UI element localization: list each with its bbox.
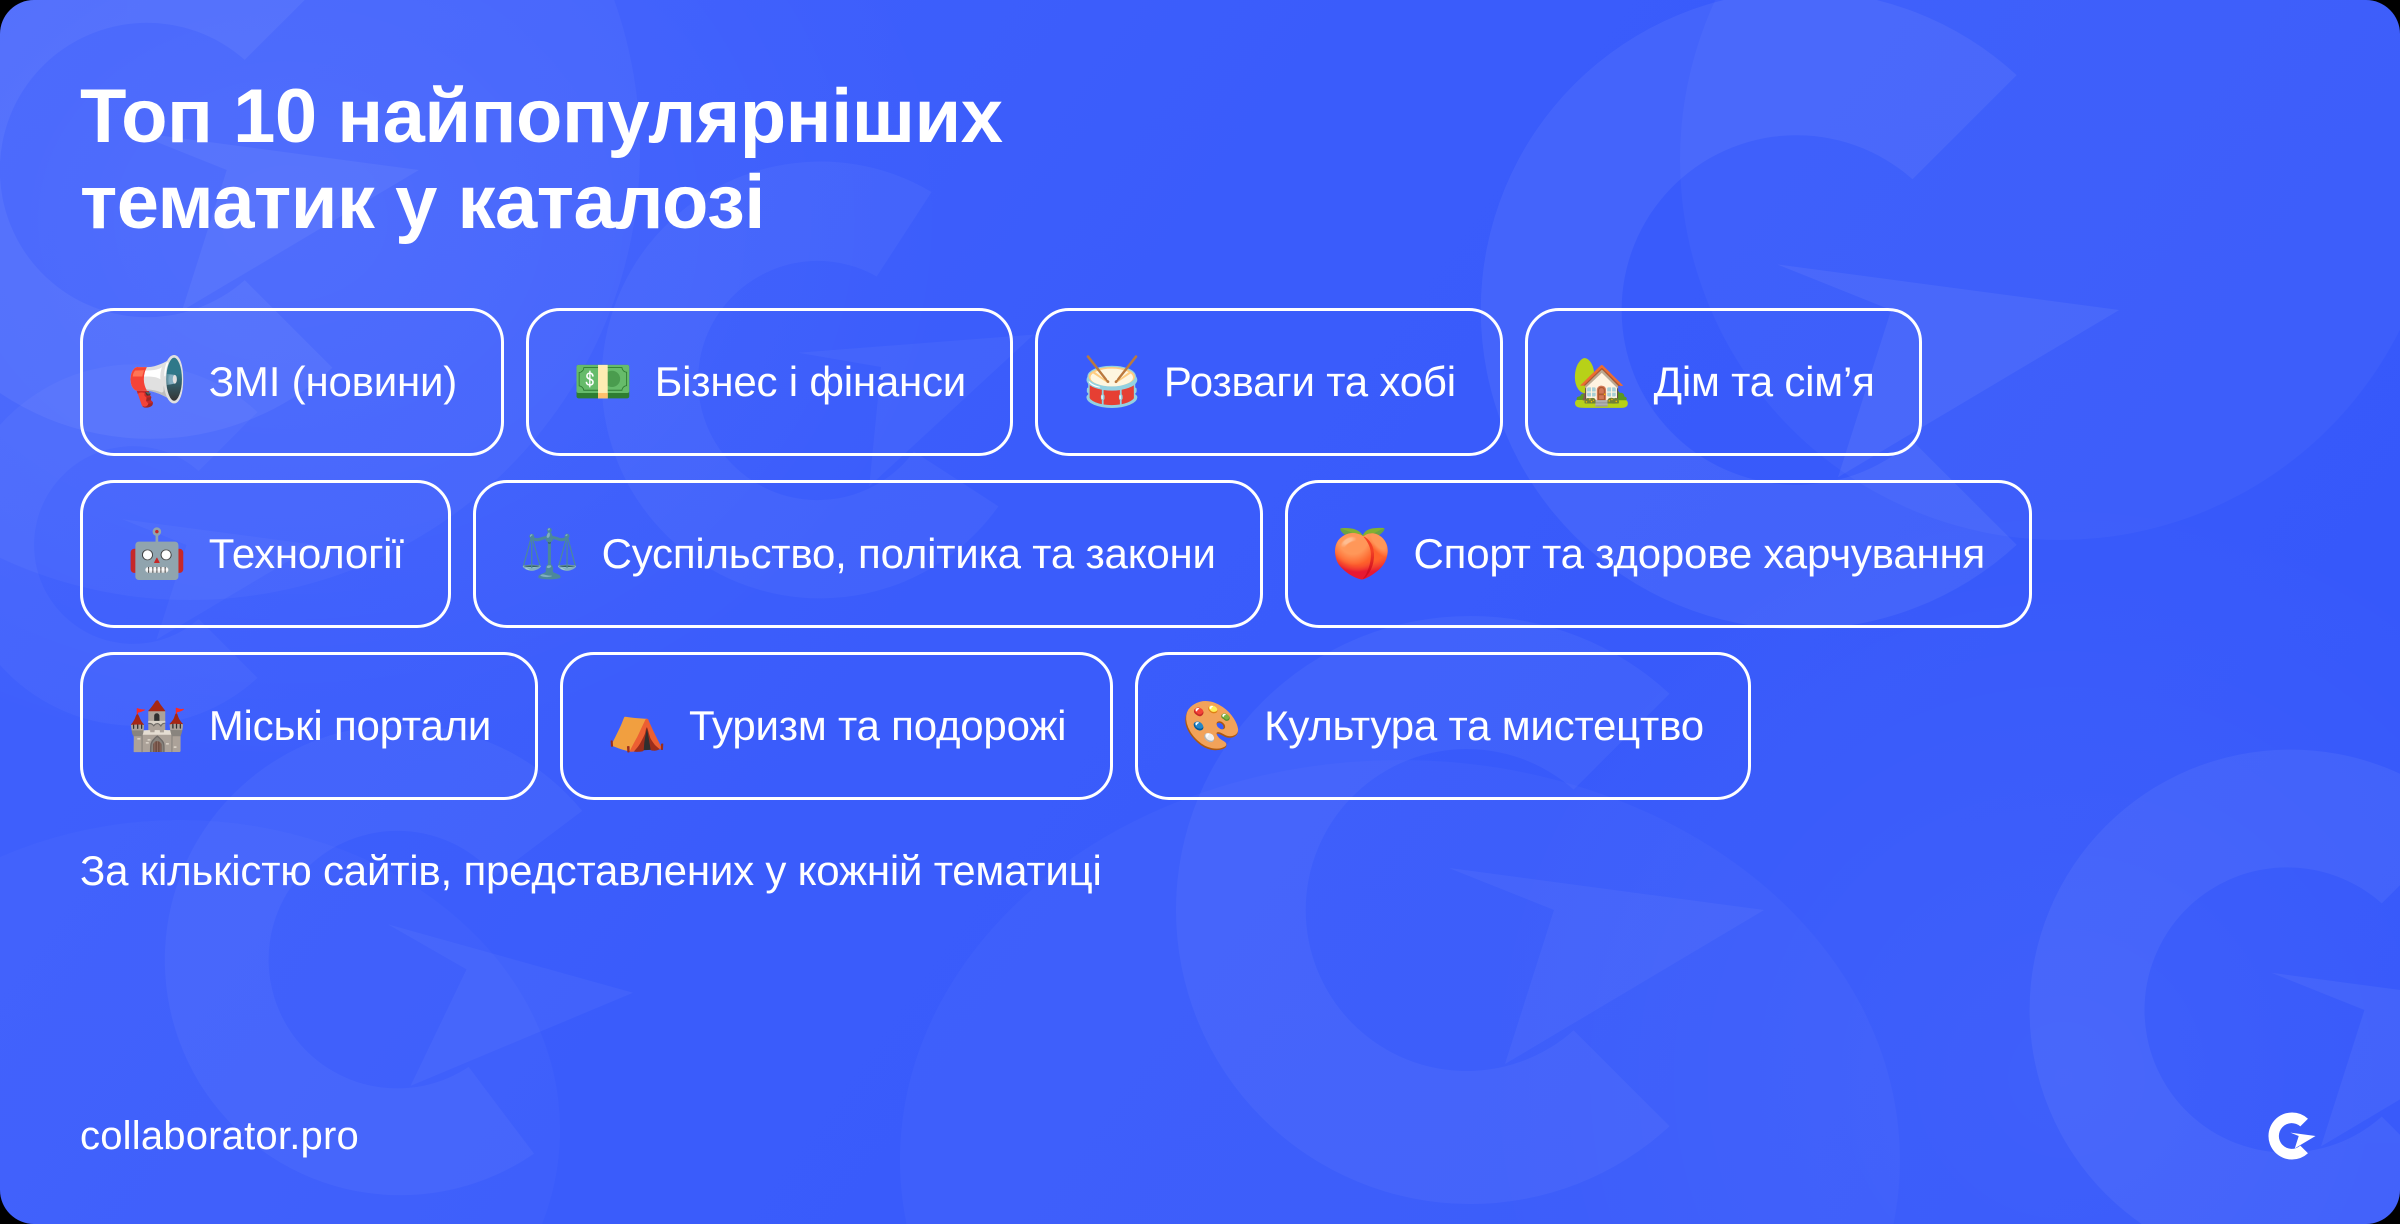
topic-chip-label: Суспільство, політика та закони [602,533,1216,575]
page-title-line-2: тематик у каталозі [80,160,765,245]
topic-chip-row: 🤖 Технології ⚖️ Суспільство, політика та… [80,480,2032,628]
brand-url[interactable]: collaborator.pro [80,1114,359,1159]
topic-chip-row: 📢 ЗМІ (новини) 💵 Бізнес і фінанси 🥁 Розв… [80,308,1922,456]
poster-canvas: Топ 10 найпопулярніших тематик у каталоз… [0,0,2400,1224]
poster-content: Топ 10 найпопулярніших тематик у каталоз… [0,0,2400,896]
topic-chip-label: Дім та сім’я [1654,361,1875,403]
balance-scale-icon: ⚖️ [520,530,580,578]
collaborator-logo [2264,1108,2320,1164]
robot-icon: 🤖 [127,530,187,578]
topic-chip-label: Спорт та здорове харчування [1414,533,1986,575]
footer: collaborator.pro [80,1108,2320,1164]
topic-chip-label: Бізнес і фінанси [655,361,966,403]
topic-chip-label: Розваги та хобі [1164,361,1456,403]
topic-chip-business-finance[interactable]: 💵 Бізнес і фінанси [526,308,1013,456]
loudspeaker-icon: 📢 [127,358,187,406]
topic-chip-entertainment-hobbies[interactable]: 🥁 Розваги та хобі [1035,308,1503,456]
topic-chip-media[interactable]: 📢 ЗМІ (новини) [80,308,504,456]
topic-chip-society-politics-law[interactable]: ⚖️ Суспільство, політика та закони [473,480,1263,628]
topic-chip-label: ЗМІ (новини) [209,361,457,403]
topic-chip-label: Технології [209,533,404,575]
topic-chip-city-portals[interactable]: 🏰 Міські портали [80,652,538,800]
peach-icon: 🍑 [1332,530,1392,578]
topic-chip-group: 📢 ЗМІ (новини) 💵 Бізнес і фінанси 🥁 Розв… [80,308,2320,800]
page-title: Топ 10 найпопулярніших тематик у каталоз… [80,74,1480,246]
drum-icon: 🥁 [1082,358,1142,406]
topic-chip-sport-healthy-food[interactable]: 🍑 Спорт та здорове харчування [1285,480,2032,628]
tent-icon: ⛺ [607,702,667,750]
artist-palette-icon: 🎨 [1182,702,1242,750]
topic-chip-row: 🏰 Міські портали ⛺ Туризм та подорожі 🎨 … [80,652,1751,800]
house-with-garden-icon: 🏡 [1572,358,1632,406]
page-title-line-1: Топ 10 найпопулярніших [80,74,1003,159]
topic-chip-home-family[interactable]: 🏡 Дім та сім’я [1525,308,1922,456]
topic-chip-label: Туризм та подорожі [689,705,1066,747]
topic-chip-culture-art[interactable]: 🎨 Культура та мистецтво [1135,652,1751,800]
subtitle-caption: За кількістю сайтів, представлених у кож… [80,846,2320,896]
dollar-banknote-icon: 💵 [573,358,633,406]
topic-chip-technology[interactable]: 🤖 Технології [80,480,451,628]
castle-icon: 🏰 [127,702,187,750]
topic-chip-label: Культура та мистецтво [1264,705,1704,747]
topic-chip-tourism-travel[interactable]: ⛺ Туризм та подорожі [560,652,1113,800]
topic-chip-label: Міські портали [209,705,491,747]
